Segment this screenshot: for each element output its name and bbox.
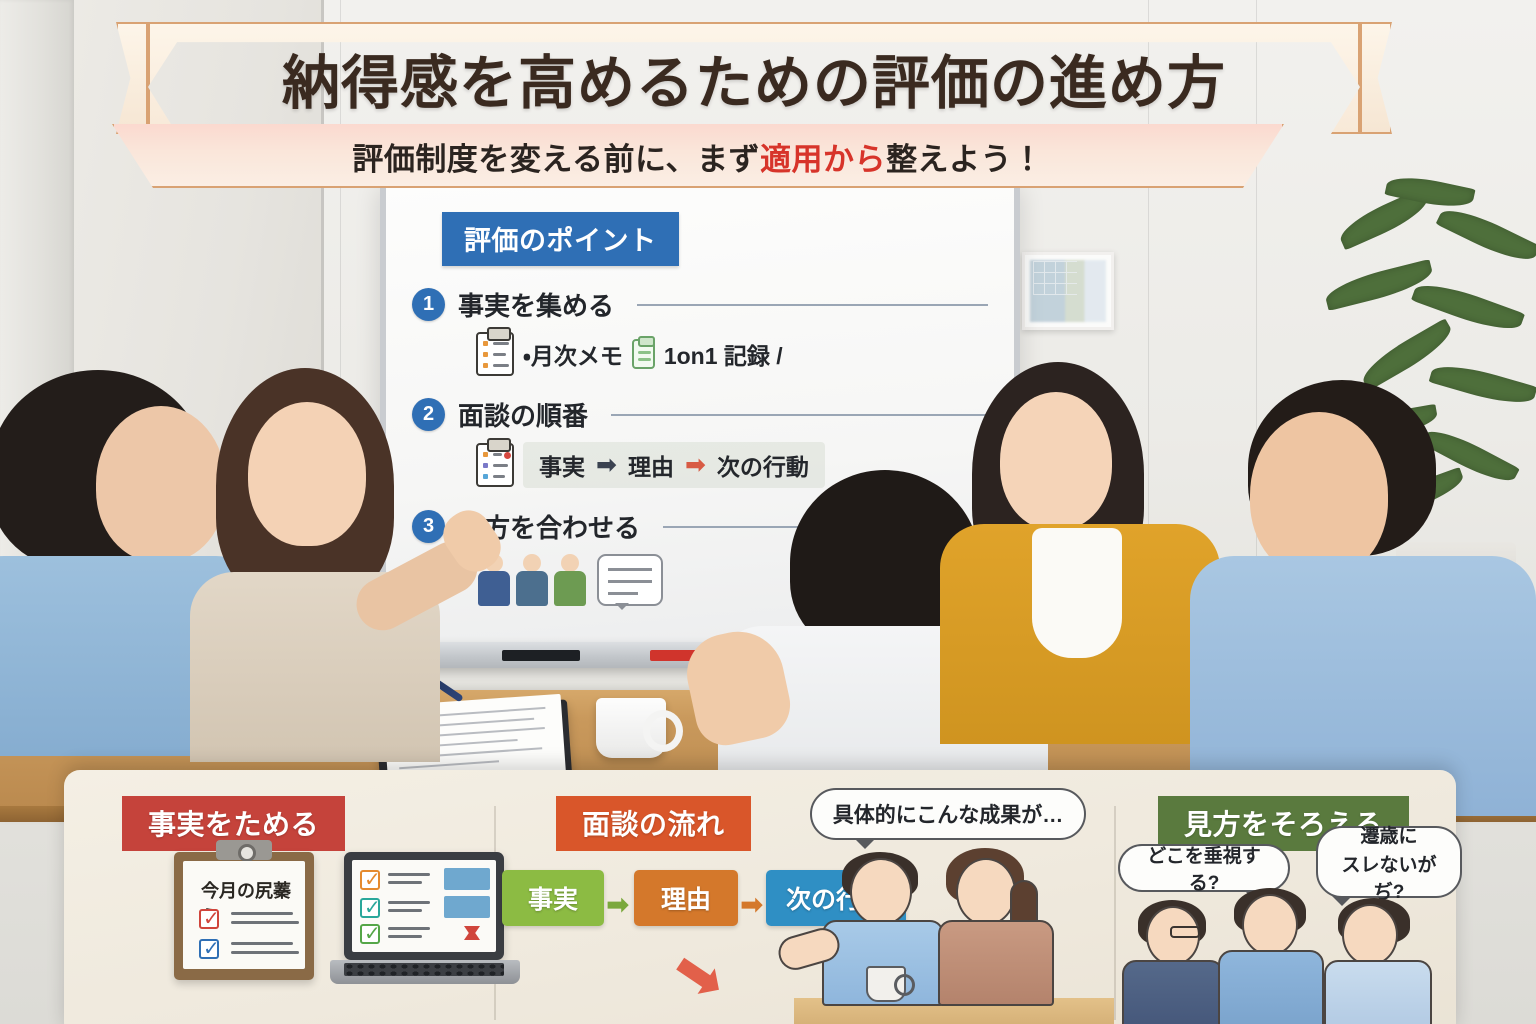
- card-section-collect-facts: 事実をためる 今月の尻蓁え: [64, 770, 494, 1024]
- flow-arrow-1-icon: ➡: [606, 888, 629, 921]
- whiteboard-item-1-sub2-text: 1on1 記録 /: [664, 337, 783, 371]
- card-section-align-views: 見方をそろえる どこを垂視する? 遷歳に スレないがぢ?: [1114, 770, 1456, 1024]
- whiteboard-item-1-rule: [637, 304, 988, 306]
- marker-black: [502, 650, 580, 661]
- coffee-cup: [596, 698, 666, 758]
- wall-picture-frame: [1022, 252, 1114, 330]
- whiteboard-flow-item-0: 事実: [539, 448, 585, 482]
- laptop-screen: [352, 860, 496, 952]
- flow-chip-reason: 理由: [634, 870, 738, 926]
- laptop-icon-red: [464, 926, 480, 940]
- card-section-2-ribbon: 面談の流れ: [556, 796, 751, 851]
- whiteboard-item-3-number: 3: [412, 510, 445, 543]
- speech-bubble-what-to-focus: どこを垂視する?: [1118, 844, 1290, 892]
- speech-bubble-results: 具体的にこんな成果が…: [810, 788, 1086, 840]
- clipboard-illustration: 今月の尻蓁え: [174, 852, 314, 980]
- whiteboard-item-1-title: 事実を集める: [458, 286, 614, 323]
- laptop-keyboard: [344, 963, 504, 976]
- whiteboard-item-1-number: 1: [412, 288, 445, 321]
- clipboard-clip: [216, 840, 272, 860]
- bottom-summary-card: 事実をためる 今月の尻蓁え: [64, 770, 1456, 1024]
- poster-subtitle: 評価制度を変える前に、まず適用から整えよう！: [112, 124, 1284, 188]
- illustration-mug: [866, 966, 906, 1002]
- laptop-checkbox-orange: [360, 870, 380, 890]
- inner-shirt: [1032, 528, 1122, 658]
- flow-chip-fact: 事実: [502, 870, 604, 926]
- clipboard-icon: [476, 332, 514, 376]
- checkbox-red: [199, 909, 219, 929]
- laptop-checkbox-teal: [360, 898, 380, 918]
- whiteboard-item-2-rule: [611, 414, 988, 416]
- whiteboard-item-1-sub-text: ・月次メモ: [523, 337, 623, 371]
- flow-arrow-2-icon: ➡: [740, 888, 763, 921]
- clipboard-green-icon: [632, 339, 655, 369]
- laptop-illustration: [344, 852, 504, 960]
- whiteboard-flow-item-1: 理由: [628, 448, 674, 482]
- glasses-icon: [1170, 926, 1200, 938]
- whiteboard-ribbon-label: 評価のポイント: [442, 212, 679, 266]
- whiteboard-item-1: 1 事実を集める ・月次メモ: [412, 286, 988, 376]
- whiteboard-item-2-title: 面談の順番: [458, 396, 588, 433]
- big-down-arrow-icon: ➡: [658, 930, 742, 1020]
- arrow-right-red-icon: ➡: [685, 450, 706, 480]
- speech-bubble-icon: [597, 554, 663, 606]
- poster-title: 納得感を高めるための評価の進め方: [148, 22, 1360, 134]
- whiteboard-item-1-sub: ・月次メモ 1on1 記録 /: [476, 332, 988, 376]
- checkbox-blue: [199, 939, 219, 959]
- arrow-right-dark-icon: ➡: [596, 450, 617, 480]
- card-section-interview-flow: 面談の流れ 事実 ➡ 理由 ➡ 次の行動 ➡ 具体的にこんな成果が…: [494, 770, 1114, 1024]
- poster-root: 評価のポイント 1 事実を集める: [0, 0, 1536, 1024]
- subtitle-before: 評価制度を変える前に、まず: [352, 134, 760, 179]
- wall-picture-grid: [1033, 261, 1077, 295]
- speech-bubble-no-drift: 遷歳に スレないがぢ?: [1316, 826, 1462, 898]
- laptop-checkbox-green: [360, 924, 380, 944]
- whiteboard-item-2-number: 2: [412, 398, 445, 431]
- clipboard-sheet: 今月の尻蓁え: [183, 861, 305, 969]
- subtitle-highlight: 適用から: [760, 134, 886, 179]
- subtitle-after: 整えよう！: [886, 134, 1044, 179]
- clipboard-checklist-icon: [476, 443, 514, 487]
- whiteboard-flow-item-2: 次の行動: [717, 448, 809, 482]
